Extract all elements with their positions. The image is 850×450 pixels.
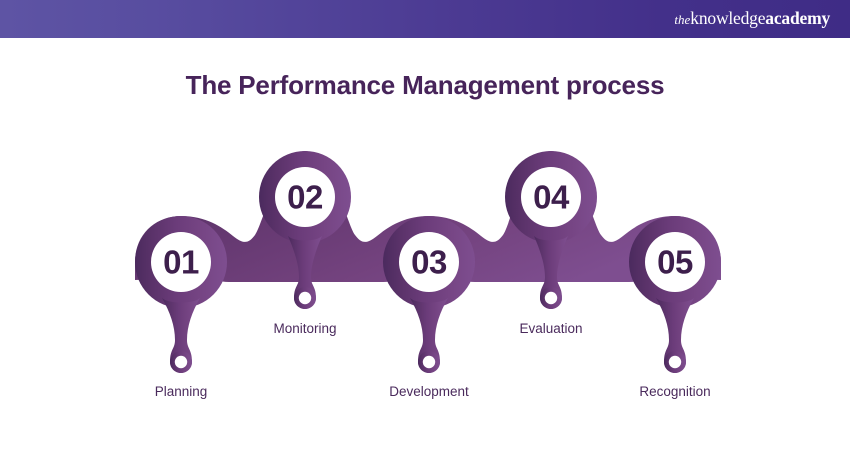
brand-knowledge-text: knowledge: [690, 8, 765, 28]
step-number-02: 02: [287, 179, 323, 216]
page-root: theknowledgeacademy The Performance Mana…: [0, 0, 850, 450]
process-diagram-svg: 01 02 03 04 05 Planning Monitoring Devel…: [0, 130, 850, 420]
end-dot-04: [540, 287, 562, 309]
page-title: The Performance Management process: [0, 70, 850, 101]
step-label-planning: Planning: [155, 384, 208, 399]
end-dot-01: [170, 351, 192, 373]
step-number-01: 01: [163, 244, 199, 281]
end-dot-02: [294, 287, 316, 309]
brand-logo: theknowledgeacademy: [674, 10, 830, 28]
header-bar: theknowledgeacademy: [0, 0, 850, 38]
step-number-03: 03: [411, 244, 447, 281]
step-number-04: 04: [533, 179, 570, 216]
end-dot-05: [664, 351, 686, 373]
brand-academy-text: academy: [765, 8, 830, 28]
end-dot-03: [418, 351, 440, 373]
step-label-monitoring: Monitoring: [273, 321, 336, 336]
step-label-evaluation: Evaluation: [519, 321, 582, 336]
step-label-recognition: Recognition: [639, 384, 710, 399]
step-number-05: 05: [657, 244, 693, 281]
step-label-development: Development: [389, 384, 469, 399]
brand-the-text: the: [674, 12, 690, 27]
process-diagram: 01 02 03 04 05 Planning Monitoring Devel…: [0, 130, 850, 420]
